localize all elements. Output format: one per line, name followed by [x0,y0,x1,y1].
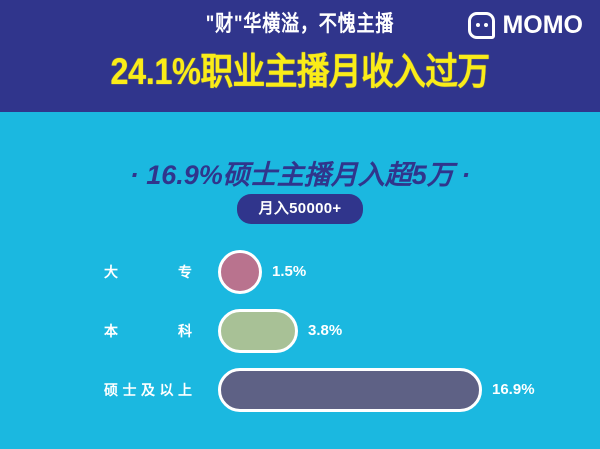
body-section: · 16.9%硕士主播月入超5万 · 月入50000+ 大专 1.5% 本科 3… [0,112,600,449]
momo-wordmark: MOMO [502,13,583,38]
subtitle-text: · 16.9%硕士主播月入超5万 · [0,158,600,192]
bar-track-master [218,368,482,412]
chart-row: 本科 3.8% [0,301,600,360]
income-badge: 月入50000+ [237,194,364,224]
bar-label-master: 硕士及以上 [104,381,192,399]
education-income-bar-chart: 大专 1.5% 本科 3.8% 硕士及以上 16.9% [0,242,600,419]
bar-diploma [218,250,262,294]
infographic-poster: "财"华横溢，不愧主播 24.1%职业主播月收入过万 MOMO · 16.9%硕… [0,0,600,449]
bar-value-diploma: 1.5% [272,263,306,281]
momo-speech-bubble-icon [468,12,495,39]
bar-master [218,368,482,412]
header-headline-text: 24.1%职业主播月收入过万 [36,48,564,96]
bar-label-bachelor: 本科 [104,322,192,340]
badge-container: 月入50000+ [0,194,600,224]
logo-eye-right [484,23,488,27]
bar-bachelor [218,309,298,353]
header-banner: "财"华横溢，不愧主播 24.1%职业主播月收入过万 MOMO [0,0,600,112]
bar-value-bachelor: 3.8% [308,322,342,340]
bar-label-diploma: 大专 [104,263,192,281]
chart-row: 硕士及以上 16.9% [0,360,600,419]
logo-eye-left [476,23,480,27]
bar-value-master: 16.9% [492,381,535,399]
bar-track-bachelor [218,309,298,353]
chart-row: 大专 1.5% [0,242,600,301]
momo-logo: MOMO [468,10,583,40]
bar-track-diploma [218,250,262,294]
